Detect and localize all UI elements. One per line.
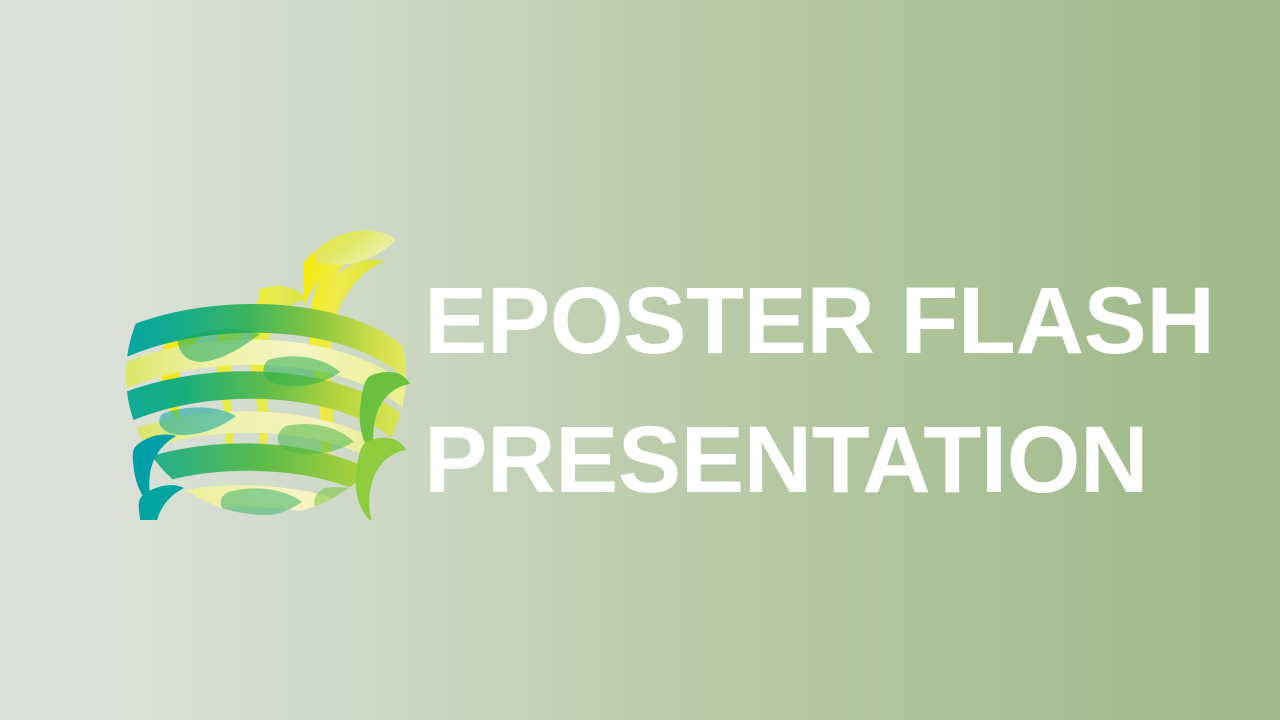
globe-ribbon-logo [118,200,414,520]
title-line-2: PRESENTATION [424,391,1224,530]
title-slide: EPOSTER FLASH PRESENTATION [0,0,1280,720]
title-line-1: EPOSTER FLASH [424,252,1224,391]
slide-title: EPOSTER FLASH PRESENTATION [424,252,1224,530]
